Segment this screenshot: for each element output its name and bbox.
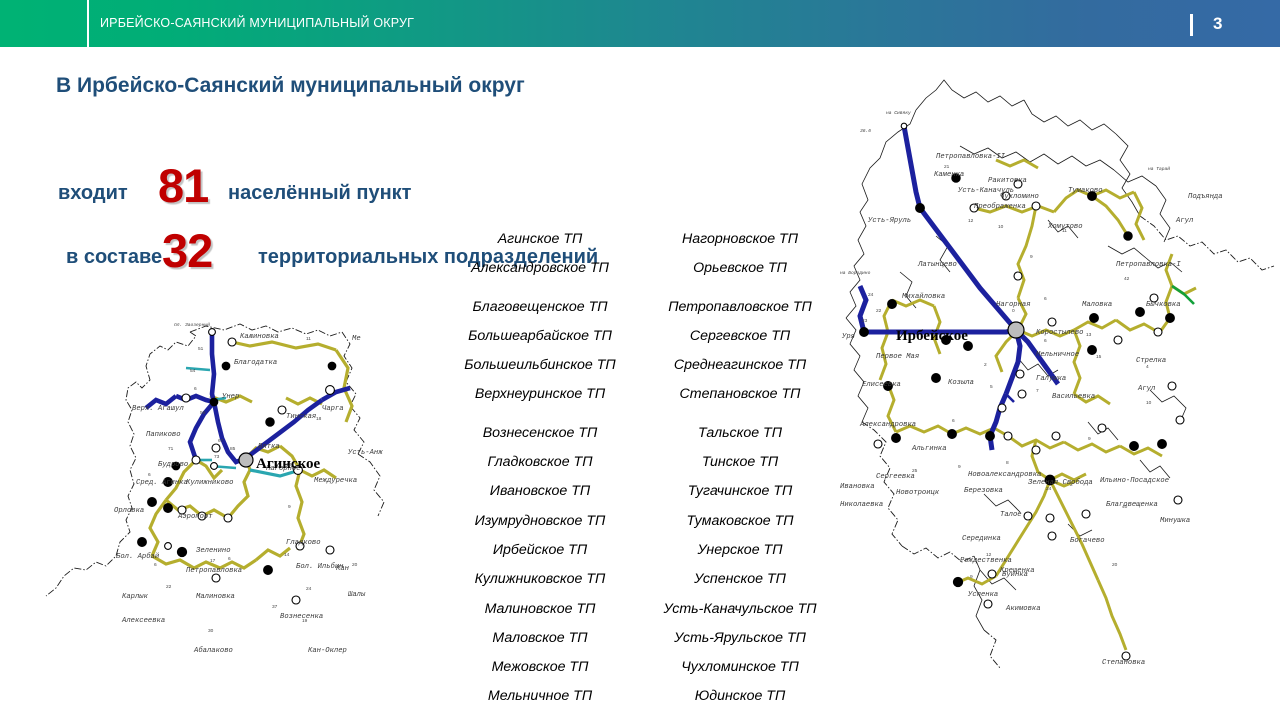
svg-text:2: 2 (984, 362, 987, 368)
svg-text:9: 9 (958, 464, 961, 470)
page-title: ИРБЕЙСКО-САЯНСКИЙ МУНИЦИПАЛЬНЫЙ ОКРУГ (100, 0, 414, 47)
svg-text:Ирбейское: Ирбейское (896, 328, 968, 344)
svg-text:12: 12 (986, 552, 992, 558)
list-item: Изумрудновское ТП (440, 514, 640, 543)
map-irbeysky-rayon[interactable]: на Сивяку 36.6 Петропавловка-II Усть-Яру… (840, 50, 1280, 720)
list-item: Орьевское ТП (640, 261, 840, 290)
list-item: Кулижниковское ТП (440, 572, 640, 601)
svg-text:Каменка: Каменка (934, 171, 964, 179)
svg-text:22: 22 (166, 584, 172, 590)
svg-text:23: 23 (862, 318, 868, 324)
svg-text:6: 6 (250, 334, 253, 340)
list-item: Степановское ТП (640, 387, 840, 416)
svg-text:85: 85 (230, 446, 236, 452)
svg-text:Петропавловка: Петропавловка (186, 567, 242, 575)
list-item: Юдинское ТП (640, 689, 840, 718)
svg-text:Ивановка: Ивановка (840, 483, 875, 491)
svg-text:7: 7 (1036, 388, 1039, 394)
svg-text:Богачево: Богачево (1070, 537, 1105, 545)
svg-text:Новоалександровка: Новоалександровка (968, 471, 1041, 479)
svg-text:24: 24 (1046, 486, 1052, 492)
svg-text:15: 15 (1096, 354, 1102, 360)
list-item: Большеарбайское ТП (440, 329, 640, 358)
svg-text:6: 6 (154, 562, 157, 568)
svg-text:Березовка: Березовка (964, 487, 1003, 495)
svg-text:6: 6 (952, 418, 955, 424)
list-item: Усть-Ярульское ТП (640, 631, 840, 660)
list-item: Маловское ТП (440, 631, 640, 660)
svg-text:9: 9 (288, 504, 291, 510)
svg-text:Бол. Арбай: Бол. Арбай (116, 552, 160, 561)
svg-text:19: 19 (302, 618, 308, 624)
svg-text:36.6: 36.6 (860, 128, 871, 134)
svg-text:9: 9 (970, 574, 973, 580)
svg-text:Гладково: Гладково (286, 539, 321, 547)
svg-text:Серединка: Серединка (962, 535, 1001, 543)
svg-text:Александровка: Александровка (859, 421, 916, 429)
svg-text:Успенка: Успенка (967, 591, 998, 599)
svg-text:Калиновка: Калиновка (240, 333, 279, 341)
svg-text:6: 6 (228, 556, 231, 562)
svg-text:9: 9 (1030, 254, 1033, 260)
svg-text:17: 17 (210, 558, 216, 564)
svg-text:на Тарай: на Тарай (1148, 165, 1170, 172)
page-number: 3 (1213, 0, 1222, 47)
svg-text:Будрово: Будрово (158, 461, 188, 469)
svg-text:Рождественка: Рождественка (960, 557, 1012, 565)
map-sayansky-rayon[interactable]: пл. Заозерный Калиновка Ме Благодатка Ун… (0, 270, 432, 720)
list-item: Унерское ТП (640, 543, 840, 572)
svg-text:Буинка: Буинка (1002, 571, 1028, 579)
svg-text:0: 0 (1012, 308, 1015, 314)
svg-text:пл. Заозерный: пл. Заозерный (174, 321, 210, 328)
lead-line-2-suffix: населённый пункт (228, 182, 411, 205)
list-item: Тугачинское ТП (640, 484, 840, 513)
svg-text:Карлык: Карлык (122, 593, 149, 601)
svg-text:Стрелка: Стрелка (1136, 357, 1166, 365)
page-number-divider (1190, 14, 1193, 36)
svg-text:Бычковка: Бычковка (1146, 301, 1181, 309)
svg-text:22: 22 (876, 308, 882, 314)
svg-text:Николаевка: Николаевка (840, 501, 883, 509)
svg-text:12: 12 (286, 462, 292, 468)
svg-text:Альгинка: Альгинка (911, 445, 947, 453)
list-item: Агинское ТП (440, 232, 640, 261)
svg-text:Алексеевка: Алексеевка (121, 617, 165, 625)
svg-text:24: 24 (868, 292, 874, 298)
svg-text:18: 18 (316, 416, 322, 422)
svg-text:Орловка: Орловка (114, 507, 144, 515)
svg-text:Сергеевка: Сергеевка (876, 473, 915, 481)
svg-text:Уря: Уря (841, 333, 855, 341)
svg-text:Михайловка: Михайловка (902, 292, 945, 301)
svg-text:Коростылево: Коростылево (1036, 329, 1083, 337)
list-item: Межовское ТП (440, 660, 640, 689)
svg-text:12: 12 (968, 218, 974, 224)
svg-text:Усть-Яруль: Усть-Яруль (867, 217, 911, 225)
svg-text:20: 20 (1112, 562, 1118, 568)
list-item: Чухломинское ТП (640, 660, 840, 689)
svg-text:Междуречка: Междуречка (314, 477, 357, 485)
svg-text:Акимовка: Акимовка (1005, 605, 1041, 613)
tp-column-2: Нагорновское ТП Орьевское ТП Петропавлов… (640, 232, 840, 719)
list-item: Петропавловское ТП (640, 291, 840, 329)
list-item: Усть-Каначульское ТП (640, 602, 840, 631)
svg-text:Елисеевка: Елисеевка (862, 381, 901, 389)
svg-text:40: 40 (1122, 504, 1128, 510)
territorial-divisions-list: Агинское ТП Александровское ТП Благовеще… (440, 232, 860, 712)
svg-text:Маловка: Маловка (1082, 301, 1112, 309)
list-item: Малиновское ТП (440, 602, 640, 631)
lead-line-1: В Ирбейско-Саянский муниципальный округ (56, 74, 525, 98)
svg-text:Тумаково: Тумаково (1068, 187, 1103, 195)
list-item: Ирбейское ТП (440, 543, 640, 572)
svg-text:54: 54 (190, 368, 196, 374)
svg-text:Кулижниково: Кулижниково (186, 479, 233, 487)
list-item: Тинское ТП (640, 455, 840, 484)
svg-text:51: 51 (198, 346, 204, 352)
svg-text:Малиновка: Малиновка (196, 593, 235, 601)
list-item: Среднеагинское ТП (640, 358, 840, 387)
svg-text:Тинская: Тинская (286, 413, 316, 421)
svg-text:6: 6 (148, 472, 151, 478)
svg-text:2: 2 (1070, 482, 1073, 488)
svg-text:Степановка: Степановка (1102, 659, 1145, 667)
svg-text:Талое: Талое (1000, 511, 1022, 519)
svg-text:Благовещенка: Благовещенка (1106, 501, 1158, 509)
svg-text:71: 71 (168, 446, 174, 452)
svg-text:на Сивяку: на Сивяку (886, 110, 911, 116)
list-item: Большеильбинское ТП (440, 358, 640, 387)
svg-text:Минушка: Минушка (1160, 517, 1190, 525)
header-divider (87, 0, 89, 47)
svg-text:Кан: Кан (336, 565, 350, 573)
svg-text:25: 25 (912, 468, 918, 474)
svg-text:Чарга: Чарга (322, 405, 344, 413)
svg-text:Сред. Агинка: Сред. Агинка (136, 479, 188, 487)
svg-text:Усть-Анж: Усть-Анж (347, 449, 383, 457)
svg-text:Мельничное: Мельничное (1036, 351, 1079, 359)
svg-text:Папиково: Папиково (146, 431, 181, 439)
svg-text:14: 14 (284, 552, 290, 558)
list-item: Сергевское ТП (640, 329, 840, 358)
svg-text:8: 8 (1006, 460, 1009, 466)
svg-text:24: 24 (306, 586, 312, 592)
svg-text:10: 10 (1146, 400, 1152, 406)
svg-text:Козыла: Козыла (948, 379, 974, 387)
svg-text:37: 37 (272, 604, 278, 610)
svg-text:Петропавловка-II: Петропавловка-II (936, 153, 1006, 161)
settlements-count: 81 (158, 158, 208, 213)
list-item: Верхнеуринское ТП (440, 387, 640, 416)
svg-text:Нагорная: Нагорная (996, 301, 1031, 309)
svg-text:Галушка: Галушка (1036, 375, 1066, 383)
svg-text:Ракитовка: Ракитовка (988, 177, 1027, 185)
svg-text:Подъянда: Подъянда (1188, 193, 1223, 201)
svg-text:Зеленая Свобода: Зеленая Свобода (1028, 478, 1093, 487)
svg-text:6: 6 (1044, 338, 1047, 344)
lead-line-3-prefix: в составе (66, 246, 162, 269)
lead-statement: В Ирбейско-Саянский муниципальный округ … (0, 56, 700, 236)
svg-text:Благодатка: Благодатка (234, 359, 277, 367)
svg-text:Агул: Агул (1175, 217, 1194, 225)
tp-column-1: Агинское ТП Александровское ТП Благовеще… (440, 232, 640, 719)
list-item: Ивановское ТП (440, 484, 640, 513)
svg-text:9: 9 (1088, 436, 1091, 442)
list-item: Александровское ТП (440, 261, 640, 290)
list-item: Тальское ТП (640, 417, 840, 455)
slide-header: ИРБЕЙСКО-САЯНСКИЙ МУНИЦИПАЛЬНЫЙ ОКРУГ 3 (0, 0, 1280, 47)
svg-text:Ме: Ме (352, 335, 361, 343)
svg-text:Васильевка: Васильевка (1052, 393, 1095, 401)
svg-text:Верх. Агашул: Верх. Агашул (132, 405, 184, 413)
list-item: Вознесенское ТП (440, 417, 640, 455)
svg-text:42: 42 (1124, 276, 1130, 282)
svg-text:Шалы: Шалы (347, 591, 366, 599)
list-item: Успенское ТП (640, 572, 840, 601)
svg-text:Агул: Агул (1137, 385, 1156, 393)
list-item: Нагорновское ТП (640, 232, 840, 261)
svg-text:Петропавловка-I: Петропавловка-I (1116, 261, 1181, 269)
svg-text:Преображенка: Преображенка (974, 202, 1026, 211)
svg-text:на Бородино: на Бородино (840, 270, 871, 276)
svg-text:4: 4 (1146, 364, 1149, 370)
svg-text:67: 67 (218, 438, 224, 444)
svg-text:Вятка: Вятка (258, 443, 280, 451)
svg-text:Унер: Унер (221, 393, 239, 401)
svg-text:10: 10 (998, 224, 1004, 230)
list-item: Гладковское ТП (440, 455, 640, 484)
list-item: Тумаковское ТП (640, 514, 840, 543)
svg-text:6: 6 (1044, 296, 1047, 302)
svg-text:73: 73 (214, 454, 220, 460)
svg-text:11: 11 (1062, 228, 1067, 234)
svg-text:11: 11 (306, 336, 311, 342)
svg-text:59: 59 (200, 410, 206, 416)
list-item: Благовещенское ТП (440, 291, 640, 329)
lead-line-2-prefix: входит (58, 182, 128, 205)
svg-text:Аэропорт: Аэропорт (177, 513, 213, 521)
svg-text:Первое Мая: Первое Мая (876, 353, 919, 361)
svg-text:20: 20 (352, 562, 358, 568)
svg-text:13: 13 (1086, 332, 1092, 338)
svg-text:30: 30 (208, 628, 214, 634)
svg-text:21: 21 (944, 164, 950, 170)
svg-text:Ильино-Посадское: Ильино-Посадское (1100, 477, 1169, 485)
svg-text:Чухломино: Чухломино (1000, 193, 1039, 201)
svg-text:Новотроицк: Новотроицк (896, 489, 940, 497)
svg-text:Латынцево: Латынцево (917, 261, 957, 269)
svg-text:Зеленино: Зеленино (196, 547, 231, 555)
list-item: Мельничное ТП (440, 689, 640, 718)
svg-text:6: 6 (194, 386, 197, 392)
svg-text:Абалаково: Абалаково (193, 646, 233, 655)
svg-text:5: 5 (990, 384, 993, 390)
svg-text:Кан-Оклер: Кан-Оклер (308, 647, 347, 655)
